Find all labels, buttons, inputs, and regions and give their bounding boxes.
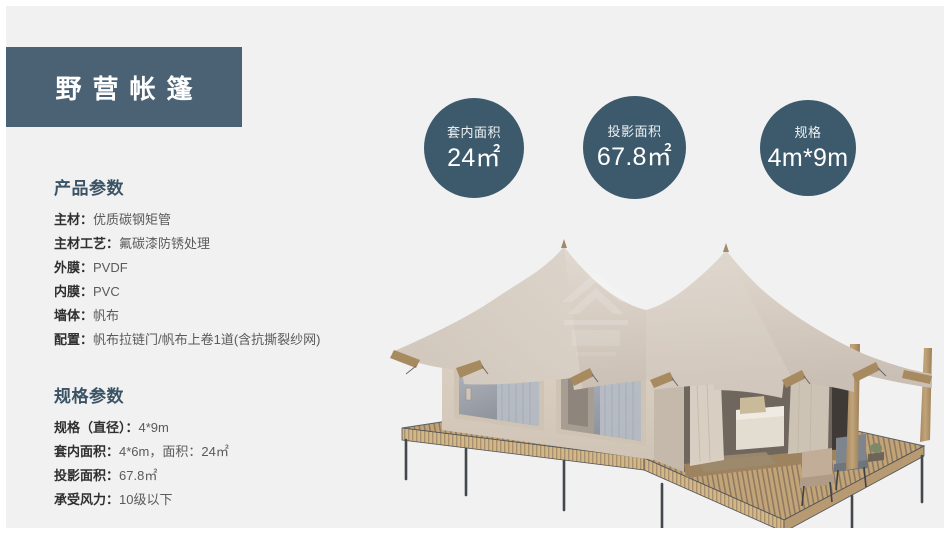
spec-value: 氟碳漆防锈处理 — [119, 236, 210, 251]
spec-value: 帆布 — [93, 308, 119, 323]
product-spec-page: 野营帐篷 套内面积 24㎡ 投影面积 67.8㎡ 规格 4m*9m 产品参数 主… — [0, 0, 950, 534]
size-params-heading: 规格参数 — [54, 382, 229, 407]
product-params-block: 产品参数 主材：优质碳钢矩管 主材工艺：氟碳漆防锈处理 外膜：PVDF 内膜：P… — [54, 174, 321, 352]
page-title: 野营帐篷 — [44, 69, 203, 106]
badge-value: 24㎡ — [447, 146, 501, 171]
spec-value: 10级以下 — [119, 492, 172, 507]
spec-value: PVDF — [93, 260, 128, 275]
spec-label: 配置： — [54, 332, 93, 347]
tent-illustration — [384, 202, 950, 534]
spec-row: 墙体：帆布 — [54, 304, 321, 328]
page-title-banner: 野营帐篷 — [6, 47, 242, 127]
spec-row: 投影面积：67.8㎡ — [54, 464, 229, 488]
spec-value: 67.8㎡ — [119, 468, 157, 483]
spec-label: 外膜： — [54, 260, 93, 275]
stat-badge-interior-area: 套内面积 24㎡ — [424, 98, 524, 198]
spec-value: 4*9m — [139, 420, 169, 435]
spec-row: 套内面积：4*6m，面积：24㎡ — [54, 440, 229, 464]
spec-label: 墙体： — [54, 308, 93, 323]
spec-value: PVC — [93, 284, 120, 299]
stat-badge-projected-area: 投影面积 67.8㎡ — [583, 96, 686, 199]
spec-label: 内膜： — [54, 284, 93, 299]
spec-row: 主材工艺：氟碳漆防锈处理 — [54, 232, 321, 256]
spec-label: 承受风力： — [54, 492, 119, 507]
spec-label: 投影面积： — [54, 468, 119, 483]
spec-row: 内膜：PVC — [54, 280, 321, 304]
spec-label: 主材工艺： — [54, 236, 119, 251]
size-params-block: 规格参数 规格（直径）：4*9m 套内面积：4*6m，面积：24㎡ 投影面积：6… — [54, 382, 229, 512]
stat-badge-dimensions: 规格 4m*9m — [760, 100, 856, 196]
spec-value: 4*6m，面积：24㎡ — [119, 444, 229, 459]
spec-value: 优质碳钢矩管 — [93, 212, 171, 227]
spec-row: 承受风力：10级以下 — [54, 488, 229, 512]
spec-row: 规格（直径）：4*9m — [54, 416, 229, 440]
spec-value: 帆布拉链门/帆布上卷1道(含抗撕裂纱网) — [93, 332, 321, 347]
spec-row: 配置：帆布拉链门/帆布上卷1道(含抗撕裂纱网) — [54, 328, 321, 352]
product-params-heading: 产品参数 — [54, 174, 321, 199]
badge-value: 67.8㎡ — [597, 145, 672, 170]
badge-value: 4m*9m — [768, 146, 849, 171]
badge-label: 规格 — [794, 126, 821, 139]
spec-row: 外膜：PVDF — [54, 256, 321, 280]
spec-label: 主材： — [54, 212, 93, 227]
spec-label: 套内面积： — [54, 444, 119, 459]
spec-row: 主材：优质碳钢矩管 — [54, 208, 321, 232]
spec-label: 规格（直径）： — [54, 420, 139, 435]
badge-label: 投影面积 — [607, 125, 661, 138]
badge-label: 套内面积 — [447, 126, 501, 139]
